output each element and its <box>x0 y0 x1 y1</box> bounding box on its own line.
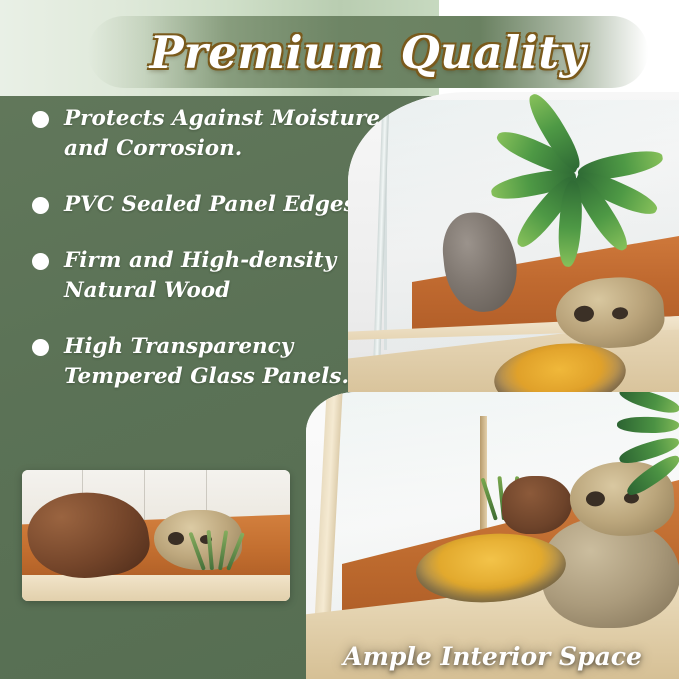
photo-enclosure-interior-wide <box>306 392 679 679</box>
bullet-dot-icon <box>32 111 49 128</box>
plant-decor <box>589 392 679 482</box>
product-feature-poster: Premium Quality Protects Against Moistur… <box>0 0 679 679</box>
grass-decor <box>200 516 240 570</box>
feature-text: Protects Against Moisture and Corrosion. <box>64 106 380 161</box>
list-item: PVC Sealed Panel Edges. <box>22 190 382 220</box>
fern-plant-decor <box>516 106 666 236</box>
list-item: Firm and High-density Natural Wood <box>22 246 382 306</box>
bullet-dot-icon <box>32 253 49 270</box>
photo-enclosure-corner-closeup <box>348 92 679 392</box>
feature-text: PVC Sealed Panel Edges. <box>64 192 363 217</box>
list-item: High Transparency Tempered Glass Panels. <box>22 332 382 392</box>
photo-terrarium-decor-detail <box>22 470 290 601</box>
feature-text: High Transparency Tempered Glass Panels. <box>64 334 349 389</box>
feature-list: Protects Against Moisture and Corrosion.… <box>22 104 382 418</box>
bullet-dot-icon <box>32 339 49 356</box>
feature-text: Firm and High-density Natural Wood <box>64 248 336 303</box>
wood-base-frame <box>22 575 290 601</box>
bullet-dot-icon <box>32 197 49 214</box>
list-item: Protects Against Moisture and Corrosion. <box>22 104 382 164</box>
page-title: Premium Quality <box>88 17 648 89</box>
photo-caption: Ample Interior Space <box>306 642 679 671</box>
